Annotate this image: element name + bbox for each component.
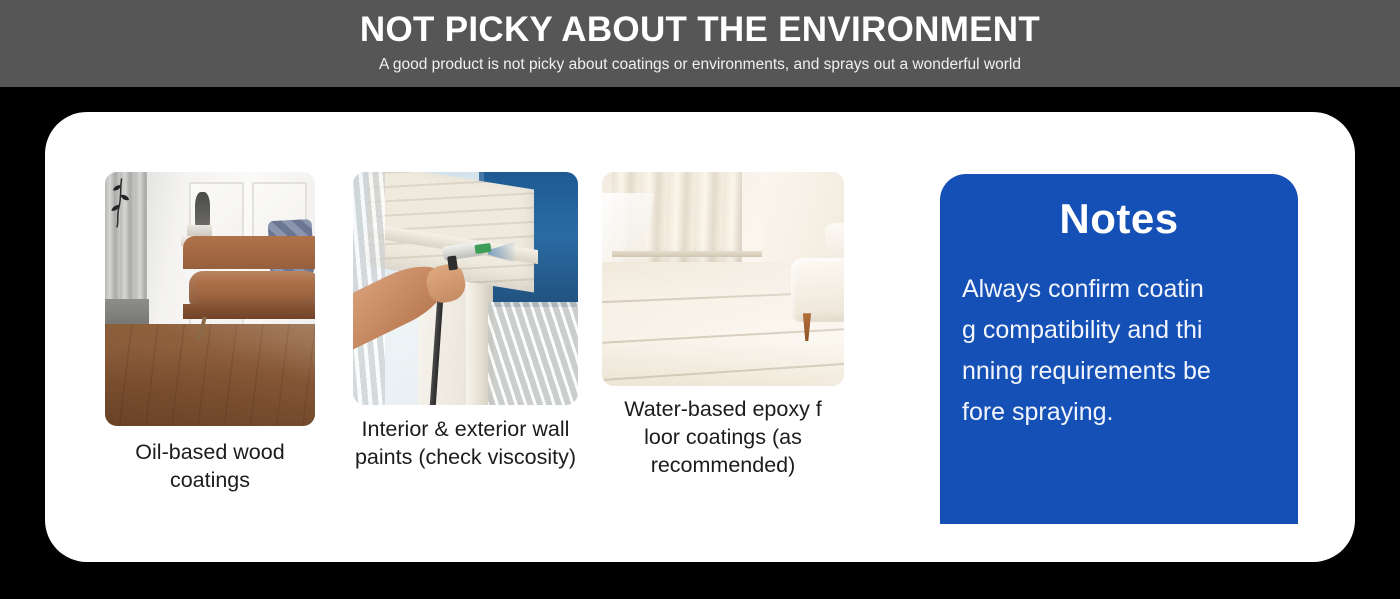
spray-painting-scene [353,172,578,405]
page-subtitle: A good product is not picky about coatin… [379,54,1021,76]
floor-sheen [105,324,315,426]
product-caption: Interior & exterior wall paints (check v… [355,415,576,471]
product-image-oil-based-wood-coatings [105,172,315,426]
sofa-seat-cushion [189,271,315,307]
product-list: Oil-based wood coatings [105,172,900,532]
product-item-oil-based-wood-coatings: Oil-based wood coatings [105,172,315,494]
notes-title: Notes [962,192,1276,246]
product-image-wall-paints [353,172,578,405]
page-title: NOT PICKY ABOUT THE ENVIRONMENT [360,9,1040,51]
promo-banner: NOT PICKY ABOUT THE ENVIRONMENT A good p… [0,0,1400,599]
notes-body: Always confirm coatin g compatibility an… [962,269,1276,433]
header-band: NOT PICKY ABOUT THE ENVIRONMENT A good p… [0,0,1400,87]
product-item-epoxy-floor-coatings: Water-based epoxy f loor coatings (as re… [603,172,843,479]
product-caption: Water-based epoxy f loor coatings (as re… [624,395,822,479]
baseboard [612,251,762,256]
plastic-tarp [488,302,578,405]
epoxy-floor-scene [602,172,844,386]
armchair [791,258,844,322]
content-card: Oil-based wood coatings [45,112,1355,562]
spray-gun-trigger [447,255,458,270]
product-item-wall-paints: Interior & exterior wall paints (check v… [353,172,578,471]
product-caption: Oil-based wood coatings [135,438,284,494]
living-room-scene [105,172,315,426]
vase [195,192,210,228]
branch-decor-icon [107,175,136,231]
notes-panel: Notes Always confirm coatin g compatibil… [940,174,1298,524]
product-image-epoxy-floor-coatings [602,172,844,386]
